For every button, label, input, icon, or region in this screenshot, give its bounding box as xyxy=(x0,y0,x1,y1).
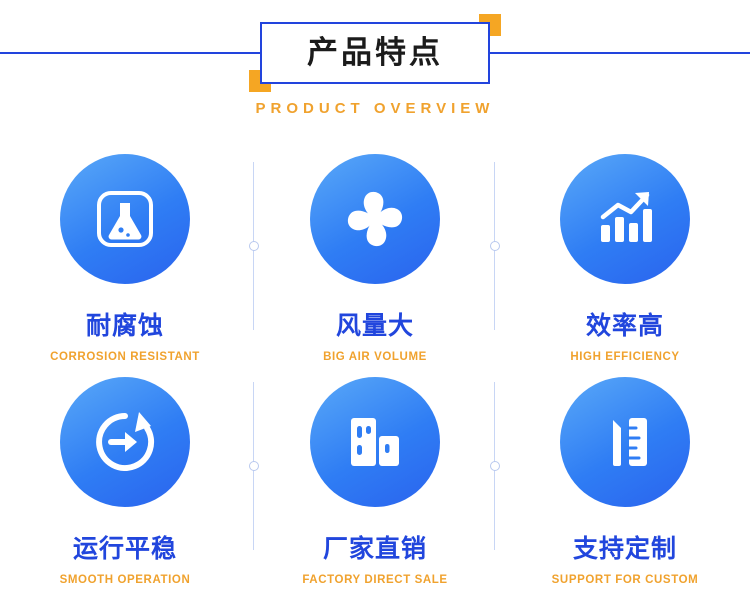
fan-icon xyxy=(337,181,413,257)
feature-icon-circle xyxy=(60,377,190,507)
page-title: 产品特点 xyxy=(260,22,490,84)
arrow-cycle-icon xyxy=(87,404,163,480)
feature-label-cn: 风量大 xyxy=(336,306,414,342)
feature-label-en: HIGH EFFICIENCY xyxy=(570,351,679,363)
feature-item-high-efficiency: 效率高 HIGH EFFICIENCY xyxy=(500,140,750,363)
feature-label-cn: 耐腐蚀 xyxy=(86,306,164,342)
feature-icon-circle xyxy=(560,377,690,507)
page-subtitle: PRODUCT OVERVIEW xyxy=(0,100,750,117)
feature-icon-circle xyxy=(310,377,440,507)
column-separator xyxy=(494,162,495,330)
feature-label-en: BIG AIR VOLUME xyxy=(323,351,427,363)
feature-label-en: FACTORY DIRECT SALE xyxy=(302,574,447,586)
column-separator xyxy=(494,382,495,550)
feature-label-cn: 运行平稳 xyxy=(73,529,177,565)
feature-item-factory-direct-sale: 厂家直销 FACTORY DIRECT SALE xyxy=(250,363,500,586)
feature-item-corrosion-resistant: 耐腐蚀 CORROSION RESISTANT xyxy=(0,140,250,363)
separator-dot xyxy=(490,241,500,251)
column-separator xyxy=(253,382,254,550)
features-grid: 耐腐蚀 CORROSION RESISTANT 风量大 BIG AIR VOLU… xyxy=(0,140,750,580)
separator-dot xyxy=(249,241,259,251)
separator-dot xyxy=(490,461,500,471)
feature-label-cn: 支持定制 xyxy=(573,529,677,565)
feature-item-support-for-custom: 支持定制 SUPPORT FOR CUSTOM xyxy=(500,363,750,586)
feature-label-cn: 厂家直销 xyxy=(323,529,427,565)
growth-chart-icon xyxy=(587,181,663,257)
title-block: 产品特点 xyxy=(260,22,490,84)
flask-icon xyxy=(89,183,161,255)
feature-item-smooth-operation: 运行平稳 SMOOTH OPERATION xyxy=(0,363,250,586)
separator-dot xyxy=(249,461,259,471)
feature-icon-circle xyxy=(60,154,190,284)
feature-label-en: SMOOTH OPERATION xyxy=(60,574,191,586)
feature-icon-circle xyxy=(560,154,690,284)
page-header: 产品特点 PRODUCT OVERVIEW xyxy=(0,0,750,140)
column-separator xyxy=(253,162,254,330)
pencil-ruler-icon xyxy=(587,404,663,480)
feature-label-en: CORROSION RESISTANT xyxy=(50,351,200,363)
factory-icon xyxy=(337,404,413,480)
feature-label-cn: 效率高 xyxy=(586,306,664,342)
feature-icon-circle xyxy=(310,154,440,284)
feature-item-big-air-volume: 风量大 BIG AIR VOLUME xyxy=(250,140,500,363)
feature-label-en: SUPPORT FOR CUSTOM xyxy=(552,574,699,586)
